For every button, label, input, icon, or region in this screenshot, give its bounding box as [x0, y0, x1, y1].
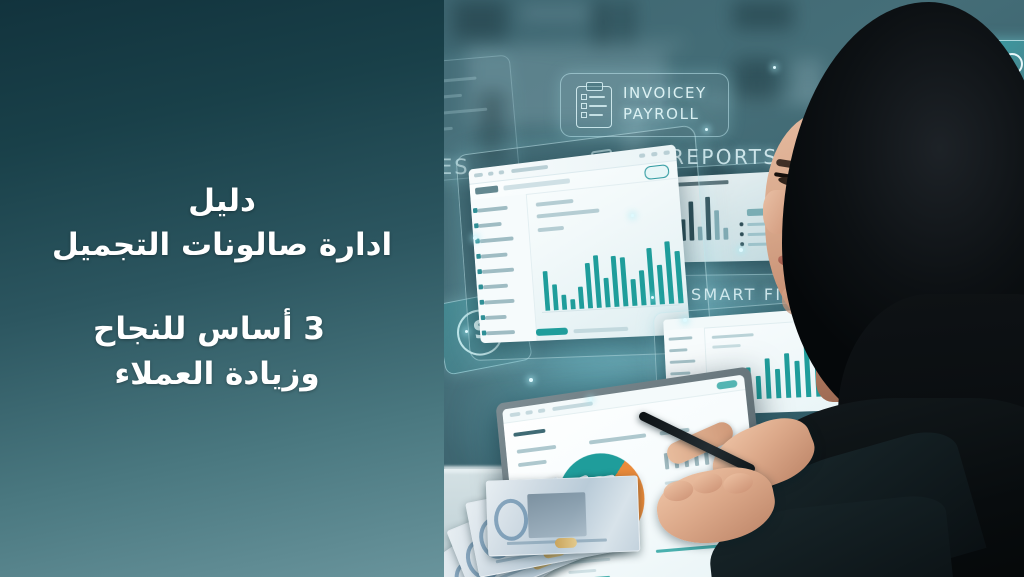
sparkle	[589, 398, 592, 401]
dashboard-sidebar	[471, 194, 538, 343]
subheadline-group: 3 أساس للنجاح وزيادة العملاء	[18, 310, 426, 395]
sparkle	[683, 318, 687, 322]
sparkle	[473, 236, 477, 240]
headline-line-1: دليل	[18, 182, 426, 222]
sparkle	[705, 128, 708, 131]
holo-card-invoice-payroll: INVOICEY PAYROLL	[560, 73, 729, 137]
sparkle	[631, 214, 634, 217]
holo-label-invoice: INVOICEY PAYROLL	[623, 83, 707, 126]
invoice-line-1: INVOICEY	[623, 84, 707, 102]
subheadline-line-2: وزيادة العملاء	[18, 355, 426, 395]
sparkle	[651, 296, 654, 299]
slide-canvas: ES INVOICEY PAYROLL $ REPORTS	[0, 0, 1024, 577]
subheadline-line-1: 3 أساس للنجاح	[18, 310, 426, 350]
sparkle	[773, 66, 776, 69]
banknotes	[443, 466, 643, 577]
headline-group: دليل ادارة صالونات التجميل	[18, 182, 426, 265]
title-panel: دليل ادارة صالونات التجميل 3 أساس للنجاح…	[0, 0, 444, 577]
sparkle	[739, 248, 743, 252]
sparkle	[465, 330, 468, 333]
invoice-line-2: PAYROLL	[623, 105, 700, 123]
headline-line-2: ادارة صالونات التجميل	[18, 226, 426, 266]
photo-composite: ES INVOICEY PAYROLL $ REPORTS	[443, 0, 1024, 577]
clipboard-icon	[576, 86, 612, 128]
sparkle	[529, 378, 533, 382]
